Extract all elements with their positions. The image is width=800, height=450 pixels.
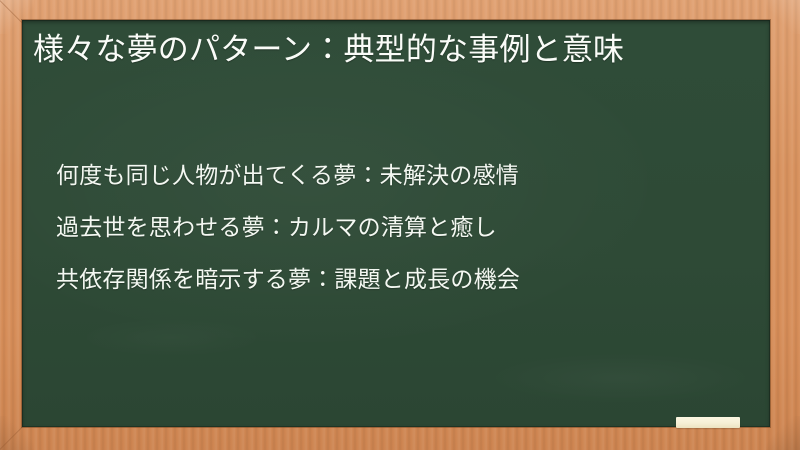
bullet-list: 何度も同じ人物が出てくる夢：未解決の感情 過去世を思わせる夢：カルマの清算と癒し…	[56, 160, 756, 294]
bullet-item: 何度も同じ人物が出てくる夢：未解決の感情	[56, 160, 756, 190]
frame-corner-top-right	[766, 0, 800, 34]
frame-seam-top-left	[0, 0, 23, 24]
bullet-item: 過去世を思わせる夢：カルマの清算と癒し	[56, 212, 756, 242]
chalk-stick	[676, 417, 740, 428]
frame-seam-bottom-left	[0, 426, 23, 450]
frame-corner-bottom-right	[766, 416, 800, 450]
slide-title: 様々な夢のパターン：典型的な事例と意味	[33, 28, 747, 71]
blackboard-slide: 様々な夢のパターン：典型的な事例と意味 何度も同じ人物が出てくる夢：未解決の感情…	[0, 0, 800, 450]
chalkboard-surface: 様々な夢のパターン：典型的な事例と意味 何度も同じ人物が出てくる夢：未解決の感情…	[22, 20, 770, 427]
bullet-item: 共依存関係を暗示する夢：課題と成長の機会	[56, 264, 756, 294]
